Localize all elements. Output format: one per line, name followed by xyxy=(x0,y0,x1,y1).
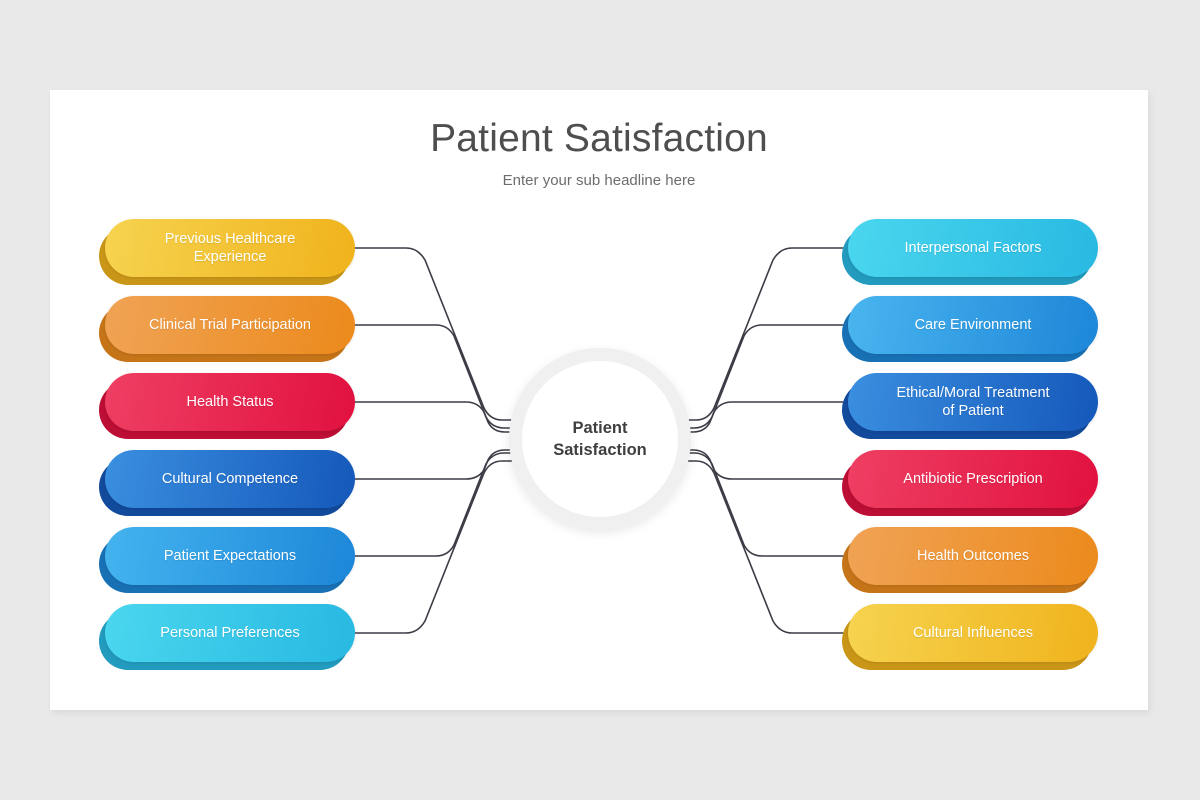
pill-antibiotic-prescription[interactable]: Antibiotic Prescription xyxy=(848,450,1098,508)
pill-ethical-moral-treatment-of-patient[interactable]: Ethical/Moral Treatment of Patient xyxy=(848,373,1098,431)
pill-care-environment[interactable]: Care Environment xyxy=(848,296,1098,354)
pill-interpersonal-factors[interactable]: Interpersonal Factors xyxy=(848,219,1098,277)
pill-cultural-influences[interactable]: Cultural Influences xyxy=(848,604,1098,662)
pill-label: Care Environment xyxy=(901,316,1046,334)
connector-left-3 xyxy=(355,402,515,432)
connector-right-5 xyxy=(684,453,843,556)
connector-left-4 xyxy=(355,450,515,479)
pill-face: Personal Preferences xyxy=(105,604,355,662)
pill-clinical-trial-participation[interactable]: Clinical Trial Participation xyxy=(105,296,355,354)
connector-right-4 xyxy=(683,450,843,479)
pill-label: Cultural Competence xyxy=(148,470,312,488)
pill-cultural-competence[interactable]: Cultural Competence xyxy=(105,450,355,508)
pill-face: Health Status xyxy=(105,373,355,431)
connector-right-6 xyxy=(686,461,843,633)
pill-face: Clinical Trial Participation xyxy=(105,296,355,354)
pill-face: Care Environment xyxy=(848,296,1098,354)
connector-left-6 xyxy=(355,461,512,633)
connector-left-5 xyxy=(355,453,514,556)
pill-label: Previous Healthcare Experience xyxy=(151,230,310,266)
connector-right-3 xyxy=(683,402,843,432)
pill-label: Cultural Influences xyxy=(899,624,1047,642)
pill-face: Interpersonal Factors xyxy=(848,219,1098,277)
pill-face: Ethical/Moral Treatment of Patient xyxy=(848,373,1098,431)
connector-right-2 xyxy=(684,325,843,428)
pill-health-status[interactable]: Health Status xyxy=(105,373,355,431)
connector-right-1 xyxy=(686,248,843,420)
pill-label: Health Outcomes xyxy=(903,547,1043,565)
pill-face: Health Outcomes xyxy=(848,527,1098,585)
pill-label: Clinical Trial Participation xyxy=(135,316,325,334)
pill-label: Interpersonal Factors xyxy=(890,239,1055,257)
center-node-label: Patient Satisfaction xyxy=(553,417,647,462)
pill-label: Patient Expectations xyxy=(150,547,310,565)
page-title: Patient Satisfaction xyxy=(50,118,1148,161)
pill-label: Antibiotic Prescription xyxy=(889,470,1056,488)
pill-face: Cultural Influences xyxy=(848,604,1098,662)
pill-face: Cultural Competence xyxy=(105,450,355,508)
pill-face: Antibiotic Prescription xyxy=(848,450,1098,508)
pill-face: Previous Healthcare Experience xyxy=(105,219,355,277)
page-subtitle: Enter your sub headline here xyxy=(50,172,1148,189)
slide-stage: Patient Satisfaction Enter your sub head… xyxy=(0,0,1200,800)
connector-left-1 xyxy=(355,248,512,420)
pill-patient-expectations[interactable]: Patient Expectations xyxy=(105,527,355,585)
slide-card: Patient Satisfaction Enter your sub head… xyxy=(50,90,1148,710)
pill-label: Health Status xyxy=(172,393,287,411)
connector-left-2 xyxy=(355,325,514,428)
center-node[interactable]: Patient Satisfaction xyxy=(509,348,691,530)
pill-label: Personal Preferences xyxy=(146,624,313,642)
pill-health-outcomes[interactable]: Health Outcomes xyxy=(848,527,1098,585)
pill-face: Patient Expectations xyxy=(105,527,355,585)
pill-previous-healthcare-experience[interactable]: Previous Healthcare Experience xyxy=(105,219,355,277)
pill-label: Ethical/Moral Treatment of Patient xyxy=(882,384,1063,420)
pill-personal-preferences[interactable]: Personal Preferences xyxy=(105,604,355,662)
